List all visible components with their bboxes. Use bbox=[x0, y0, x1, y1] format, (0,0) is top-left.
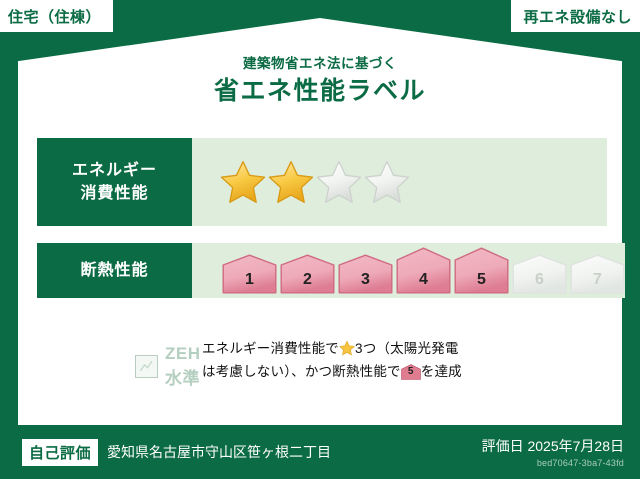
star-empty-icon bbox=[364, 159, 410, 205]
star-empty-icon bbox=[316, 159, 362, 205]
star-rating bbox=[220, 159, 410, 205]
building-type-tag: 住宅（住棟） bbox=[0, 0, 113, 32]
insulation-level-3: 3 bbox=[338, 247, 393, 294]
zeh-checkbox-icon bbox=[135, 355, 158, 378]
house-shape-icon bbox=[454, 247, 509, 294]
zeh-section: ZEH水準 エネルギー消費性能で 3つ（太陽光発電は考慮しない）、かつ断熱性能で… bbox=[37, 336, 607, 389]
evaluation-id: bed70647-3ba7-43fd bbox=[537, 458, 624, 468]
energy-performance-label: 住宅（住棟） 再エネ設備なし 建築物省エネ法に基づく 省エネ性能ラベル エネルギ… bbox=[0, 0, 640, 479]
energy-label-line2: 消費性能 bbox=[80, 185, 148, 202]
house-shape-icon bbox=[338, 254, 393, 294]
desc-star-count: 3つ（太陽光発電 bbox=[355, 341, 459, 356]
title-subtitle: 建築物省エネ法に基づく bbox=[0, 56, 640, 72]
desc-line2-post: を達成 bbox=[421, 364, 462, 379]
self-evaluation-badge: 自己評価 bbox=[22, 439, 98, 466]
star-filled-icon bbox=[268, 159, 314, 205]
footer-right-group: 評価日 2025年7月28日 bed70647-3ba7-43fd bbox=[482, 436, 640, 468]
insulation-level-5: 5 bbox=[454, 247, 509, 294]
renewable-energy-tag: 再エネ設備なし bbox=[511, 0, 640, 32]
house-shape-icon bbox=[222, 254, 277, 294]
star-filled-icon bbox=[220, 159, 266, 205]
footer-left-group: 自己評価 愛知県名古屋市守山区笹ヶ根二丁目 bbox=[0, 439, 482, 466]
inline-house-badge: 5 bbox=[401, 364, 421, 380]
zeh-label: ZEH水準 bbox=[165, 344, 202, 389]
insulation-level-6: 6 bbox=[512, 247, 567, 294]
label-footer: 自己評価 愛知県名古屋市守山区笹ヶ根二丁目 評価日 2025年7月28日 bed… bbox=[0, 425, 640, 479]
zeh-description: エネルギー消費性能で 3つ（太陽光発電は考慮しない）、かつ断熱性能で 5 を達成 bbox=[202, 336, 607, 384]
energy-performance-value-cell bbox=[192, 138, 607, 226]
desc-line2-pre: は考慮しない）、かつ断熱性能で bbox=[202, 364, 401, 379]
energy-label-line1: エネルギー bbox=[72, 162, 157, 179]
insulation-level-scale: 1234567 bbox=[222, 247, 625, 294]
house-shape-icon bbox=[512, 254, 567, 294]
house-shape-icon bbox=[396, 247, 451, 294]
insulation-performance-value-cell: 1234567 bbox=[192, 243, 625, 298]
house-shape-icon bbox=[280, 254, 335, 294]
insulation-level-7: 7 bbox=[570, 247, 625, 294]
zeh-badge: ZEH水準 bbox=[37, 336, 202, 389]
inline-star-icon bbox=[339, 340, 355, 356]
evaluation-date: 評価日 2025年7月28日 bbox=[482, 436, 624, 456]
page-title: 省エネ性能ラベル bbox=[0, 76, 640, 107]
energy-performance-label-cell: エネルギー 消費性能 bbox=[37, 138, 192, 226]
insulation-level-1: 1 bbox=[222, 247, 277, 294]
house-shape-icon bbox=[570, 254, 625, 294]
insulation-performance-label-cell: 断熱性能 bbox=[37, 243, 192, 298]
energy-performance-row: エネルギー 消費性能 bbox=[37, 138, 607, 226]
insulation-performance-row: 断熱性能 1234567 bbox=[37, 243, 607, 298]
label-title-block: 建築物省エネ法に基づく 省エネ性能ラベル bbox=[0, 56, 640, 107]
property-address: 愛知県名古屋市守山区笹ヶ根二丁目 bbox=[107, 442, 331, 462]
desc-line1-pre: エネルギー消費性能で bbox=[202, 341, 339, 356]
insulation-level-4: 4 bbox=[396, 247, 451, 294]
insulation-level-2: 2 bbox=[280, 247, 335, 294]
inline-house-number: 5 bbox=[401, 363, 421, 380]
